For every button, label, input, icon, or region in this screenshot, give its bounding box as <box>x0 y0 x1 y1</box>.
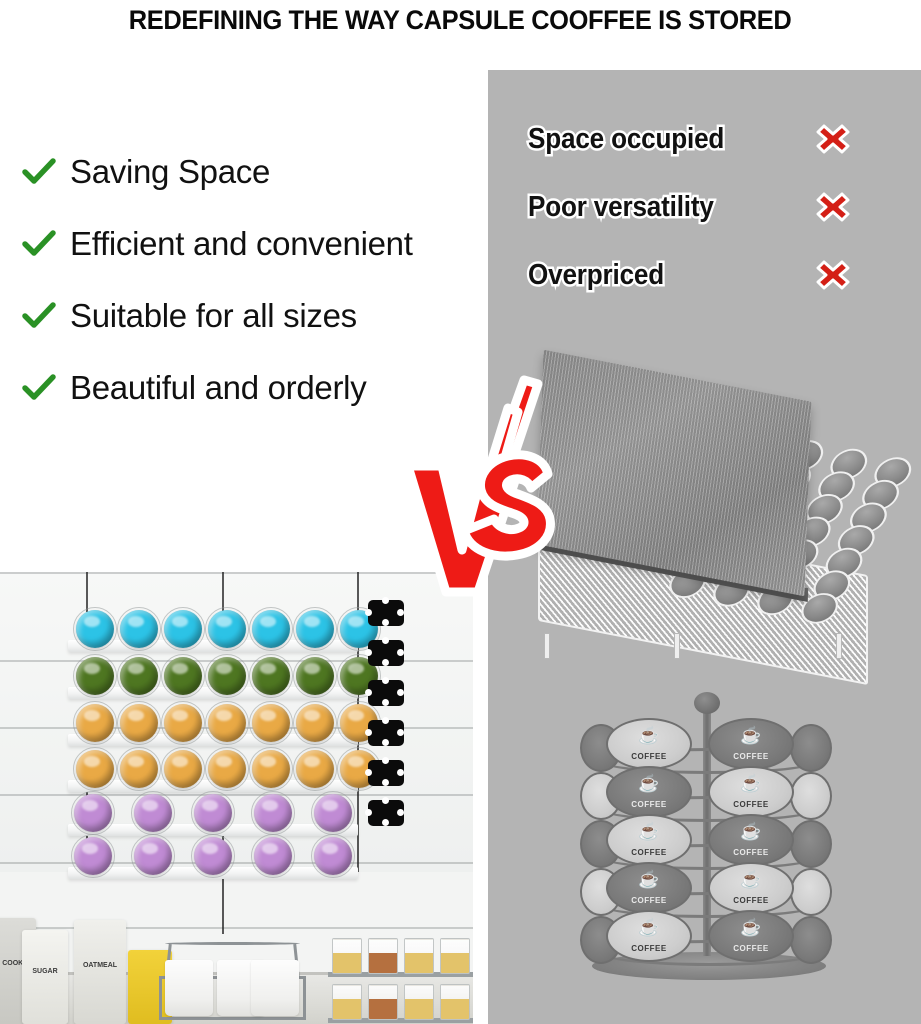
con-item: Overpriced <box>528 241 898 309</box>
chalkboard-label <box>368 760 404 786</box>
coffee-capsule <box>208 750 246 788</box>
carousel-coffee-pod: ☕COFFEE <box>606 910 692 962</box>
coffee-capsule <box>120 704 158 742</box>
white-mug <box>165 960 213 1016</box>
carousel-coffee-pod: ☕COFFEE <box>606 718 692 770</box>
wall-board-line <box>0 927 473 929</box>
capsule-ring <box>311 834 355 878</box>
pod-label: COFFEE <box>710 945 792 953</box>
capsule-ring <box>161 701 205 745</box>
capsule-ring <box>73 747 117 791</box>
capsule-ring <box>117 654 161 698</box>
cross-icon <box>816 258 850 292</box>
spice-jar <box>368 984 398 1020</box>
spice-jar <box>440 938 470 974</box>
capsule-ring <box>311 791 355 835</box>
capsule-ring <box>191 834 235 878</box>
pod-label: COFFEE <box>710 753 792 761</box>
capsule-ring <box>205 654 249 698</box>
chalkboard-label <box>368 640 404 666</box>
spice-jar-lid <box>441 984 470 986</box>
coffee-capsule <box>296 610 334 648</box>
capsule-ring <box>249 701 293 745</box>
photo-gutter <box>473 572 488 1024</box>
spice-jar-contents <box>441 999 469 1019</box>
pro-item: Beautiful and orderly <box>18 352 488 424</box>
coffee-cup-icon: ☕ <box>638 727 660 744</box>
capsule-ring <box>131 834 175 878</box>
wall-mounted-capsule-rack-photo: COOKIESUGAROATMEAL <box>0 572 473 1024</box>
spice-jar-contents <box>405 999 433 1019</box>
basket-wire <box>159 1017 306 1020</box>
chalkboard-label <box>368 680 404 706</box>
coffee-capsule <box>252 750 290 788</box>
capsule-ring <box>71 834 115 878</box>
pro-item-label: Efficient and convenient <box>70 225 413 263</box>
wall-grout-line <box>222 572 224 612</box>
coffee-cup-icon: ☕ <box>740 727 762 744</box>
coffee-capsule <box>208 704 246 742</box>
pro-item-label: Suitable for all sizes <box>70 297 357 335</box>
capsule-ring <box>293 654 337 698</box>
spice-jar <box>368 938 398 974</box>
carousel-coffee-pod <box>790 724 832 772</box>
pro-item-label: Beautiful and orderly <box>70 369 366 407</box>
capsule-ring <box>249 747 293 791</box>
capsule-row <box>76 610 378 648</box>
carousel-coffee-pod <box>790 820 832 868</box>
pro-item: Suitable for all sizes <box>18 280 488 352</box>
capsule-ring <box>117 701 161 745</box>
capsule-ring <box>205 607 249 651</box>
spice-jar-lid <box>369 984 398 986</box>
coffee-cup-icon: ☕ <box>638 871 660 888</box>
wood-top-drawer-capsule-holder <box>530 365 910 665</box>
capsule-row <box>74 794 352 832</box>
coffee-cup-icon: ☕ <box>638 919 660 936</box>
capsule-ring <box>249 607 293 651</box>
spice-jar-contents <box>369 953 397 973</box>
kitchen-canister: OATMEAL <box>74 920 126 1024</box>
capsule-ring <box>117 747 161 791</box>
spice-jar <box>332 984 362 1020</box>
spice-jar <box>404 984 434 1020</box>
capsule-ring <box>161 747 205 791</box>
spice-jar-lid <box>405 938 434 940</box>
chalkboard-label-column <box>368 600 404 826</box>
coffee-capsule <box>296 657 334 695</box>
pod-label: COFFEE <box>710 849 792 857</box>
capsule-ring <box>73 701 117 745</box>
spice-jar-contents <box>369 999 397 1019</box>
con-item-label: Poor versatility <box>528 191 714 224</box>
pro-item-label: Saving Space <box>70 153 270 191</box>
carousel-coffee-pod: ☕COFFEE <box>606 814 692 866</box>
kitchen-canister: SUGAR <box>22 930 68 1024</box>
basket-handle <box>165 942 300 945</box>
capsule-ring <box>205 747 249 791</box>
coffee-capsule <box>254 837 292 875</box>
con-item: Poor versatility <box>528 173 898 241</box>
coffee-capsule <box>254 794 292 832</box>
carousel-coffee-pod: ☕COFFEE <box>708 718 794 770</box>
coffee-cup-icon: ☕ <box>638 823 660 840</box>
coffee-capsule <box>74 837 112 875</box>
chalkboard-label <box>368 800 404 826</box>
coffee-capsule <box>194 794 232 832</box>
carousel-coffee-pod <box>790 916 832 964</box>
spice-jar-contents <box>333 999 361 1019</box>
carousel-coffee-pod: ☕COFFEE <box>606 766 692 818</box>
coffee-capsule <box>252 610 290 648</box>
wall-grout-line <box>86 572 88 612</box>
cons-panel: Space occupied Poor versatility Overpric… <box>488 70 921 1024</box>
capsule-ring <box>293 747 337 791</box>
spice-jar-lid <box>441 938 470 940</box>
capsule-ring <box>249 654 293 698</box>
rotating-carousel-capsule-holder: ☕COFFEE☕COFFEE☕COFFEE☕COFFEE☕COFFEE☕COFF… <box>584 690 834 980</box>
con-item: Space occupied <box>528 105 898 173</box>
coffee-capsule <box>164 610 202 648</box>
coffee-capsule <box>296 704 334 742</box>
mug-wire-basket <box>155 940 310 1024</box>
check-icon <box>18 296 60 336</box>
wall-board-line <box>0 572 473 574</box>
pros-list: Saving Space Efficient and convenient Su… <box>18 136 488 424</box>
capsule-ring <box>161 654 205 698</box>
spice-jar <box>440 984 470 1020</box>
capsule-ring <box>293 607 337 651</box>
coffee-capsule <box>74 794 112 832</box>
capsule-ring <box>251 791 295 835</box>
chalkboard-label <box>368 600 404 626</box>
carousel-coffee-pod: ☕COFFEE <box>708 862 794 914</box>
coffee-capsule <box>120 750 158 788</box>
spice-jar-rack <box>328 932 473 1024</box>
pod-label: COFFEE <box>608 897 690 905</box>
capsule-ring <box>73 607 117 651</box>
coffee-cup-icon: ☕ <box>740 775 762 792</box>
coffee-capsule <box>164 704 202 742</box>
coffee-capsule <box>76 657 114 695</box>
chalkboard-label <box>368 720 404 746</box>
spice-jar <box>404 938 434 974</box>
pod-label: COFFEE <box>710 897 792 905</box>
spice-jar <box>332 938 362 974</box>
coffee-cup-icon: ☕ <box>638 775 660 792</box>
capsule-ring <box>161 607 205 651</box>
capsule-ring <box>205 701 249 745</box>
carousel-coffee-pod: ☕COFFEE <box>606 862 692 914</box>
page-title: REDEFINING THE WAY CAPSULE COOFFEE IS ST… <box>129 5 792 36</box>
coffee-capsule <box>208 610 246 648</box>
pod-label: COFFEE <box>608 849 690 857</box>
cross-icon <box>816 190 850 224</box>
coffee-cup-icon: ☕ <box>740 919 762 936</box>
pod-label: COFFEE <box>608 801 690 809</box>
check-icon <box>18 368 60 408</box>
carousel-coffee-pod: ☕COFFEE <box>708 766 794 818</box>
basket-wire <box>159 976 162 1020</box>
carousel-coffee-pod: ☕COFFEE <box>708 814 794 866</box>
coffee-capsule <box>76 704 114 742</box>
capsule-ring <box>251 834 295 878</box>
carousel-coffee-pod <box>790 772 832 820</box>
coffee-capsule <box>120 610 158 648</box>
canister-label: OATMEAL <box>76 962 124 969</box>
spice-jar-lid <box>369 938 398 940</box>
coffee-cup-icon: ☕ <box>740 823 762 840</box>
capsule-row <box>74 837 352 875</box>
capsule-ring <box>73 654 117 698</box>
capsule-row <box>76 657 378 695</box>
capsule-ring <box>131 791 175 835</box>
capsule-row <box>76 704 378 742</box>
cons-list: Space occupied Poor versatility Overpric… <box>528 105 898 309</box>
spice-jar-lid <box>405 984 434 986</box>
pod-label: COFFEE <box>608 753 690 761</box>
coffee-capsule <box>252 704 290 742</box>
spice-jar-contents <box>405 953 433 973</box>
basket-wire <box>303 976 306 1020</box>
capsule-row <box>76 750 378 788</box>
pro-item: Saving Space <box>18 136 488 208</box>
capsule-ring <box>293 701 337 745</box>
coffee-capsule <box>194 837 232 875</box>
con-item-label: Overpriced <box>528 259 664 292</box>
check-icon <box>18 152 60 192</box>
coffee-capsule <box>208 657 246 695</box>
coffee-capsule <box>76 610 114 648</box>
spice-jar-lid <box>333 984 362 986</box>
canister-label: SUGAR <box>24 968 66 975</box>
spice-jar-contents <box>333 953 361 973</box>
coffee-capsule <box>76 750 114 788</box>
spice-jar-lid <box>333 938 362 940</box>
coffee-capsule <box>314 837 352 875</box>
capsule-ring <box>117 607 161 651</box>
coffee-cup-icon: ☕ <box>740 871 762 888</box>
coffee-capsule <box>296 750 334 788</box>
carousel-knob <box>694 692 720 714</box>
coffee-capsule <box>252 657 290 695</box>
carousel-coffee-pod <box>790 868 832 916</box>
coffee-capsule <box>134 837 172 875</box>
coffee-capsule <box>164 750 202 788</box>
page-title-bar: REDEFINING THE WAY CAPSULE COOFFEE IS ST… <box>0 0 921 40</box>
pro-item: Efficient and convenient <box>18 208 488 280</box>
coffee-capsule <box>314 794 352 832</box>
con-item-label: Space occupied <box>528 123 724 156</box>
coffee-capsule <box>120 657 158 695</box>
coffee-capsule <box>134 794 172 832</box>
cross-icon <box>816 122 850 156</box>
pod-label: COFFEE <box>710 801 792 809</box>
carousel-coffee-pod: ☕COFFEE <box>708 910 794 962</box>
coffee-capsule <box>164 657 202 695</box>
holder-legs <box>544 633 844 659</box>
capsule-ring <box>191 791 235 835</box>
capsule-ring <box>71 791 115 835</box>
white-mug <box>251 960 299 1016</box>
check-icon <box>18 224 60 264</box>
spice-jar-contents <box>441 953 469 973</box>
pod-label: COFFEE <box>608 945 690 953</box>
